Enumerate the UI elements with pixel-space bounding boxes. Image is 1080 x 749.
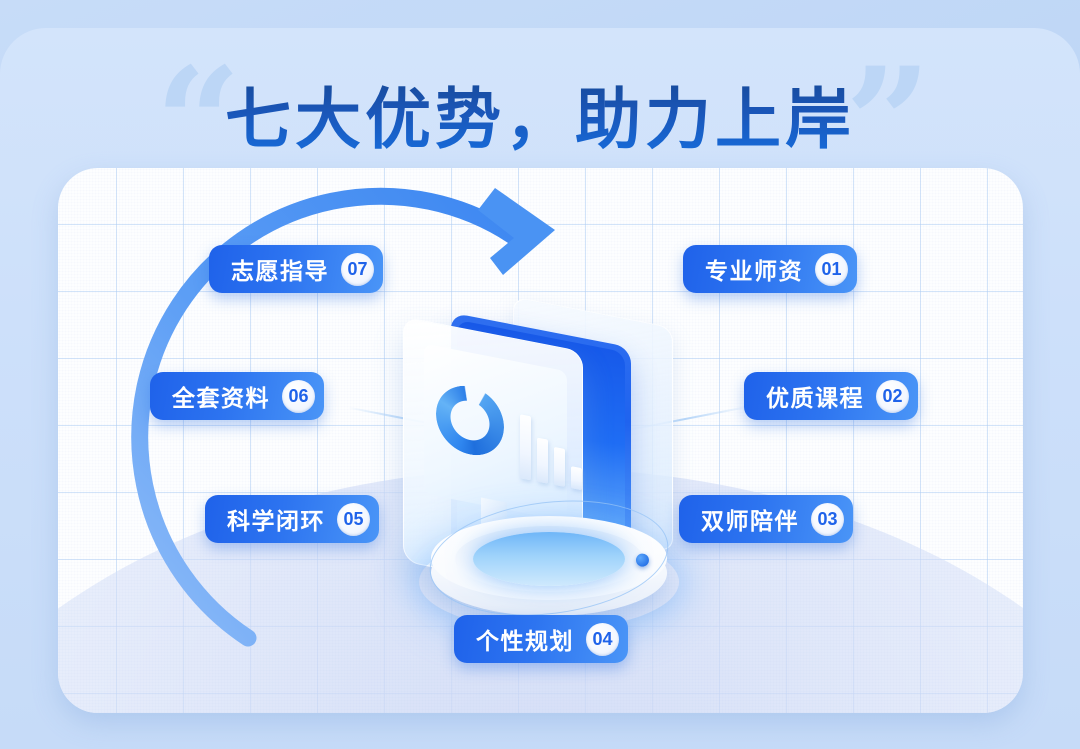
bar-3 <box>554 447 565 487</box>
advantage-label-03: 双师陪伴 <box>701 502 799 536</box>
bar-4 <box>571 466 582 490</box>
cylinder-podium <box>425 500 675 630</box>
page-title: 七大优势，助力上岸 <box>0 66 1080 162</box>
donut-chart-icon <box>436 380 504 461</box>
bar-2 <box>537 438 548 484</box>
advantage-number-05: 05 <box>337 503 370 536</box>
advantage-label-05: 科学闭环 <box>227 502 325 536</box>
advantage-badge-02[interactable]: 优质课程 02 <box>744 372 918 420</box>
advantage-number-07: 07 <box>341 253 374 286</box>
advantage-label-02: 优质课程 <box>766 379 864 413</box>
advantage-label-07: 志愿指导 <box>231 252 329 286</box>
advantage-number-04: 04 <box>586 623 619 656</box>
advantage-badge-06[interactable]: 全套资料 06 <box>150 372 324 420</box>
dashboard-screen <box>424 344 567 522</box>
advantage-badge-07[interactable]: 志愿指导 07 <box>209 245 383 293</box>
advantage-number-06: 06 <box>282 380 315 413</box>
bar-1 <box>520 414 531 480</box>
advantage-number-02: 02 <box>876 380 909 413</box>
advantage-badge-04[interactable]: 个性规划 04 <box>454 615 628 663</box>
orbit-dot <box>635 553 649 567</box>
advantage-badge-01[interactable]: 专业师资 01 <box>683 245 857 293</box>
page-background: “ ” 七大优势，助力上岸 <box>0 0 1080 749</box>
title-block: “ ” 七大优势，助力上岸 <box>0 46 1080 166</box>
advantage-badge-05[interactable]: 科学闭环 05 <box>205 495 379 543</box>
advantage-label-06: 全套资料 <box>172 379 270 413</box>
advantage-label-01: 专业师资 <box>705 252 803 286</box>
advantage-number-03: 03 <box>811 503 844 536</box>
bar-chart-icon <box>520 392 582 490</box>
advantage-label-04: 个性规划 <box>476 622 574 656</box>
advantage-number-01: 01 <box>815 253 848 286</box>
data-dashboard-3d-scene <box>395 300 695 600</box>
advantage-badge-03[interactable]: 双师陪伴 03 <box>679 495 853 543</box>
